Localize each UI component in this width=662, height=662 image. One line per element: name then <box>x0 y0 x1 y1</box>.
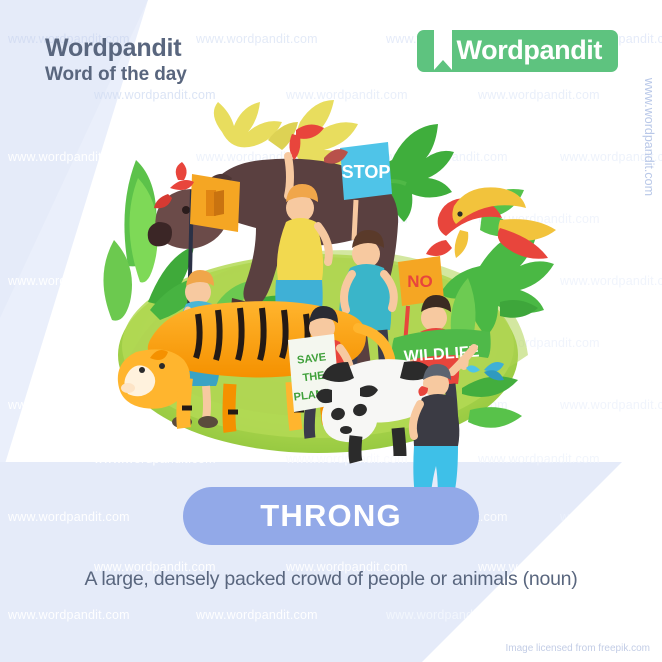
brand-title: Wordpandit <box>45 34 187 62</box>
stop-sign-label: STOP <box>342 162 391 182</box>
no-sign-label: NO <box>407 272 433 291</box>
word-term: THRONG <box>260 498 402 534</box>
brand-block: Wordpandit Word of the day <box>45 34 187 86</box>
word-term-pill: THRONG <box>183 487 479 545</box>
wildlife-protest-illustration: STOP <box>0 70 662 490</box>
word-definition: A large, densely packed crowd of people … <box>0 568 662 591</box>
word-of-the-day-card: STOP <box>0 0 662 662</box>
wordpandit-logo[interactable]: Wordpandit <box>417 30 618 72</box>
logo-text: Wordpandit <box>457 37 602 64</box>
bookmark-icon <box>432 26 454 74</box>
image-credit: Image licensed from freepik.com <box>505 643 650 654</box>
brand-subtitle: Word of the day <box>45 64 187 86</box>
